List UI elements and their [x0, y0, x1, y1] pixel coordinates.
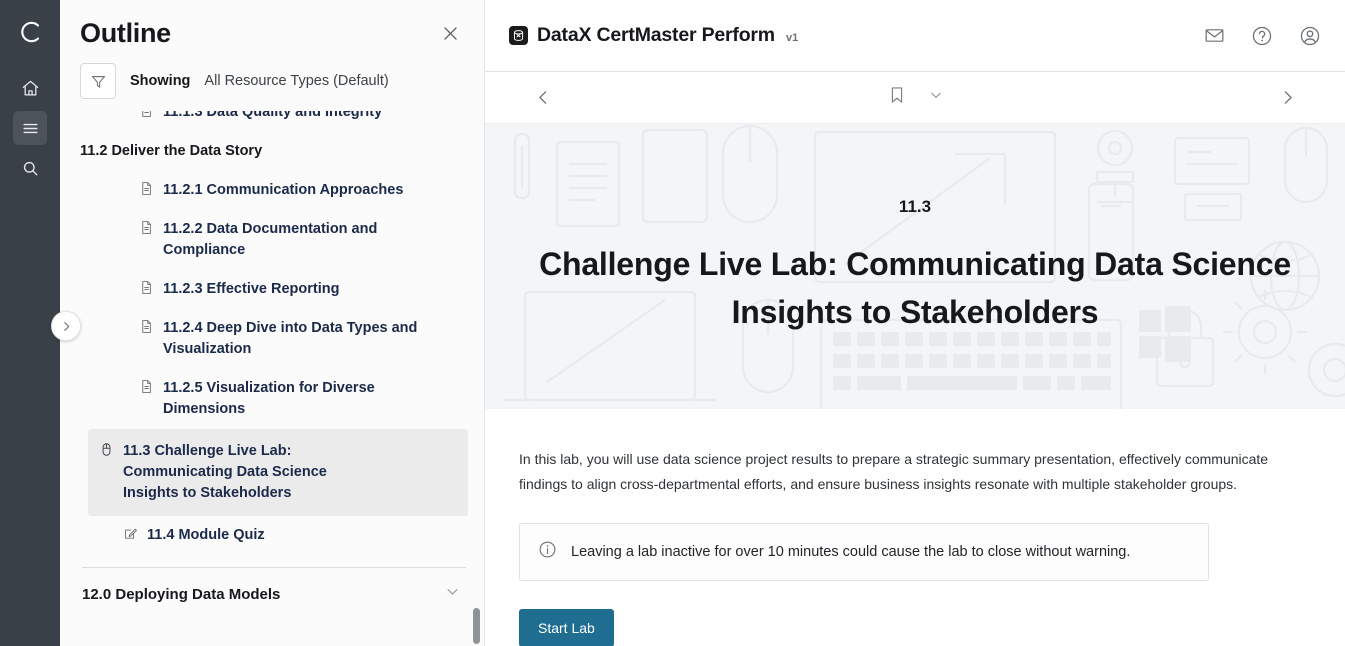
close-icon[interactable]: [436, 20, 464, 48]
outline-list-inner: 11.1.3 Data Quality and Integrity 11.2 D…: [80, 111, 468, 620]
list-item[interactable]: 11.2 Deliver the Data Story: [80, 132, 468, 171]
info-circle-icon: [538, 540, 557, 564]
filter-row: Showing All Resource Types (Default): [60, 57, 484, 111]
list-item[interactable]: 11.2.2 Data Documentation and Compliance: [138, 210, 428, 270]
outline-panel: Outline Showing All Resource Types (Defa…: [60, 0, 485, 646]
chevron-left-icon[interactable]: [529, 84, 557, 112]
list-item-selected[interactable]: 11.3 Challenge Live Lab: Communicating D…: [88, 429, 468, 516]
bookmark-icon[interactable]: [887, 85, 907, 110]
list-item-label: 11.4 Module Quiz: [147, 525, 265, 546]
document-icon: [138, 318, 154, 334]
document-icon: [138, 180, 154, 196]
list-item[interactable]: 11.4 Module Quiz: [122, 516, 468, 555]
outline-scrollbar[interactable]: [473, 130, 480, 644]
list-item-label: 11.3 Challenge Live Lab: Communicating D…: [123, 441, 385, 504]
brand: DataX CertMaster Perform v1: [509, 24, 798, 47]
list-item[interactable]: 11.1.3 Data Quality and Integrity: [138, 111, 468, 132]
document-icon: [138, 111, 154, 118]
filter-funnel-icon[interactable]: [80, 63, 116, 99]
outline-header: Outline: [60, 0, 484, 57]
list-item-label: 11.1.3 Data Quality and Integrity: [163, 111, 382, 123]
list-item[interactable]: 11.2.3 Effective Reporting: [138, 270, 468, 309]
app-root: Outline Showing All Resource Types (Defa…: [0, 0, 1345, 646]
panel-toggle-button[interactable]: [51, 311, 81, 341]
document-icon: [138, 378, 154, 394]
list-item[interactable]: 11.2.4 Deep Dive into Data Types and Vis…: [138, 309, 433, 369]
info-callout-text: Leaving a lab inactive for over 10 minut…: [571, 544, 1130, 560]
mail-icon[interactable]: [1201, 23, 1227, 49]
list-item-label: 11.2.3 Effective Reporting: [163, 279, 339, 300]
document-icon: [138, 219, 154, 235]
list-item-label: 11.2.2 Data Documentation and Compliance: [163, 219, 422, 261]
datax-database-icon: [509, 26, 528, 45]
section-title: 12.0 Deploying Data Models: [82, 586, 280, 603]
lesson-description: In this lab, you will use data science p…: [519, 447, 1279, 497]
quiz-pencil-icon: [122, 525, 138, 541]
list-item-label: 11.2.1 Communication Approaches: [163, 180, 403, 201]
filter-value[interactable]: All Resource Types (Default): [204, 73, 388, 89]
list-item[interactable]: 11.2.5 Visualization for Diverse Dimensi…: [138, 369, 418, 429]
hero-inner: 11.3 Challenge Live Lab: Communicating D…: [485, 197, 1345, 336]
home-icon[interactable]: [13, 71, 47, 105]
app-header: DataX CertMaster Perform v1: [485, 0, 1345, 72]
header-icon-group: [1201, 23, 1323, 49]
list-item[interactable]: 11.2.1 Communication Approaches: [138, 171, 468, 210]
account-circle-icon[interactable]: [1297, 23, 1323, 49]
list-item-label: 11.2.4 Deep Dive into Data Types and Vis…: [163, 318, 427, 360]
product-name: DataX CertMaster Perform: [537, 24, 775, 47]
content-navbar: [485, 72, 1345, 124]
page-title: Outline: [80, 18, 171, 49]
chevron-right-icon[interactable]: [1273, 84, 1301, 112]
lab-mouse-icon: [98, 441, 114, 457]
filter-showing-label: Showing: [130, 73, 190, 89]
bookmark-group: [557, 85, 1273, 110]
scrollbar-thumb[interactable]: [473, 608, 480, 644]
hero-banner: 11.3 Challenge Live Lab: Communicating D…: [485, 124, 1345, 409]
main-content: DataX CertMaster Perform v1: [485, 0, 1345, 646]
sidebar-section-deploying-data-models[interactable]: 12.0 Deploying Data Models: [80, 568, 468, 620]
start-lab-button[interactable]: Start Lab: [519, 609, 614, 646]
product-version: v1: [786, 27, 798, 44]
list-item-label: 11.2 Deliver the Data Story: [80, 141, 262, 162]
document-icon: [138, 279, 154, 295]
lesson-body: In this lab, you will use data science p…: [485, 409, 1345, 646]
rail-icon-group: [13, 71, 47, 185]
search-icon[interactable]: [13, 151, 47, 185]
outline-menu-icon[interactable]: [13, 111, 47, 145]
chevron-down-icon[interactable]: [445, 584, 460, 604]
outline-list: 11.1.3 Data Quality and Integrity 11.2 D…: [60, 111, 484, 646]
info-callout: Leaving a lab inactive for over 10 minut…: [519, 523, 1209, 581]
help-circle-icon[interactable]: [1249, 23, 1275, 49]
hero-title: Challenge Live Lab: Communicating Data S…: [525, 241, 1305, 336]
list-item-label: 11.2.5 Visualization for Diverse Dimensi…: [163, 378, 412, 420]
chevron-down-icon[interactable]: [929, 88, 943, 107]
hero-number: 11.3: [525, 197, 1305, 217]
c-logo-icon[interactable]: [15, 17, 45, 47]
left-rail: [0, 0, 60, 646]
